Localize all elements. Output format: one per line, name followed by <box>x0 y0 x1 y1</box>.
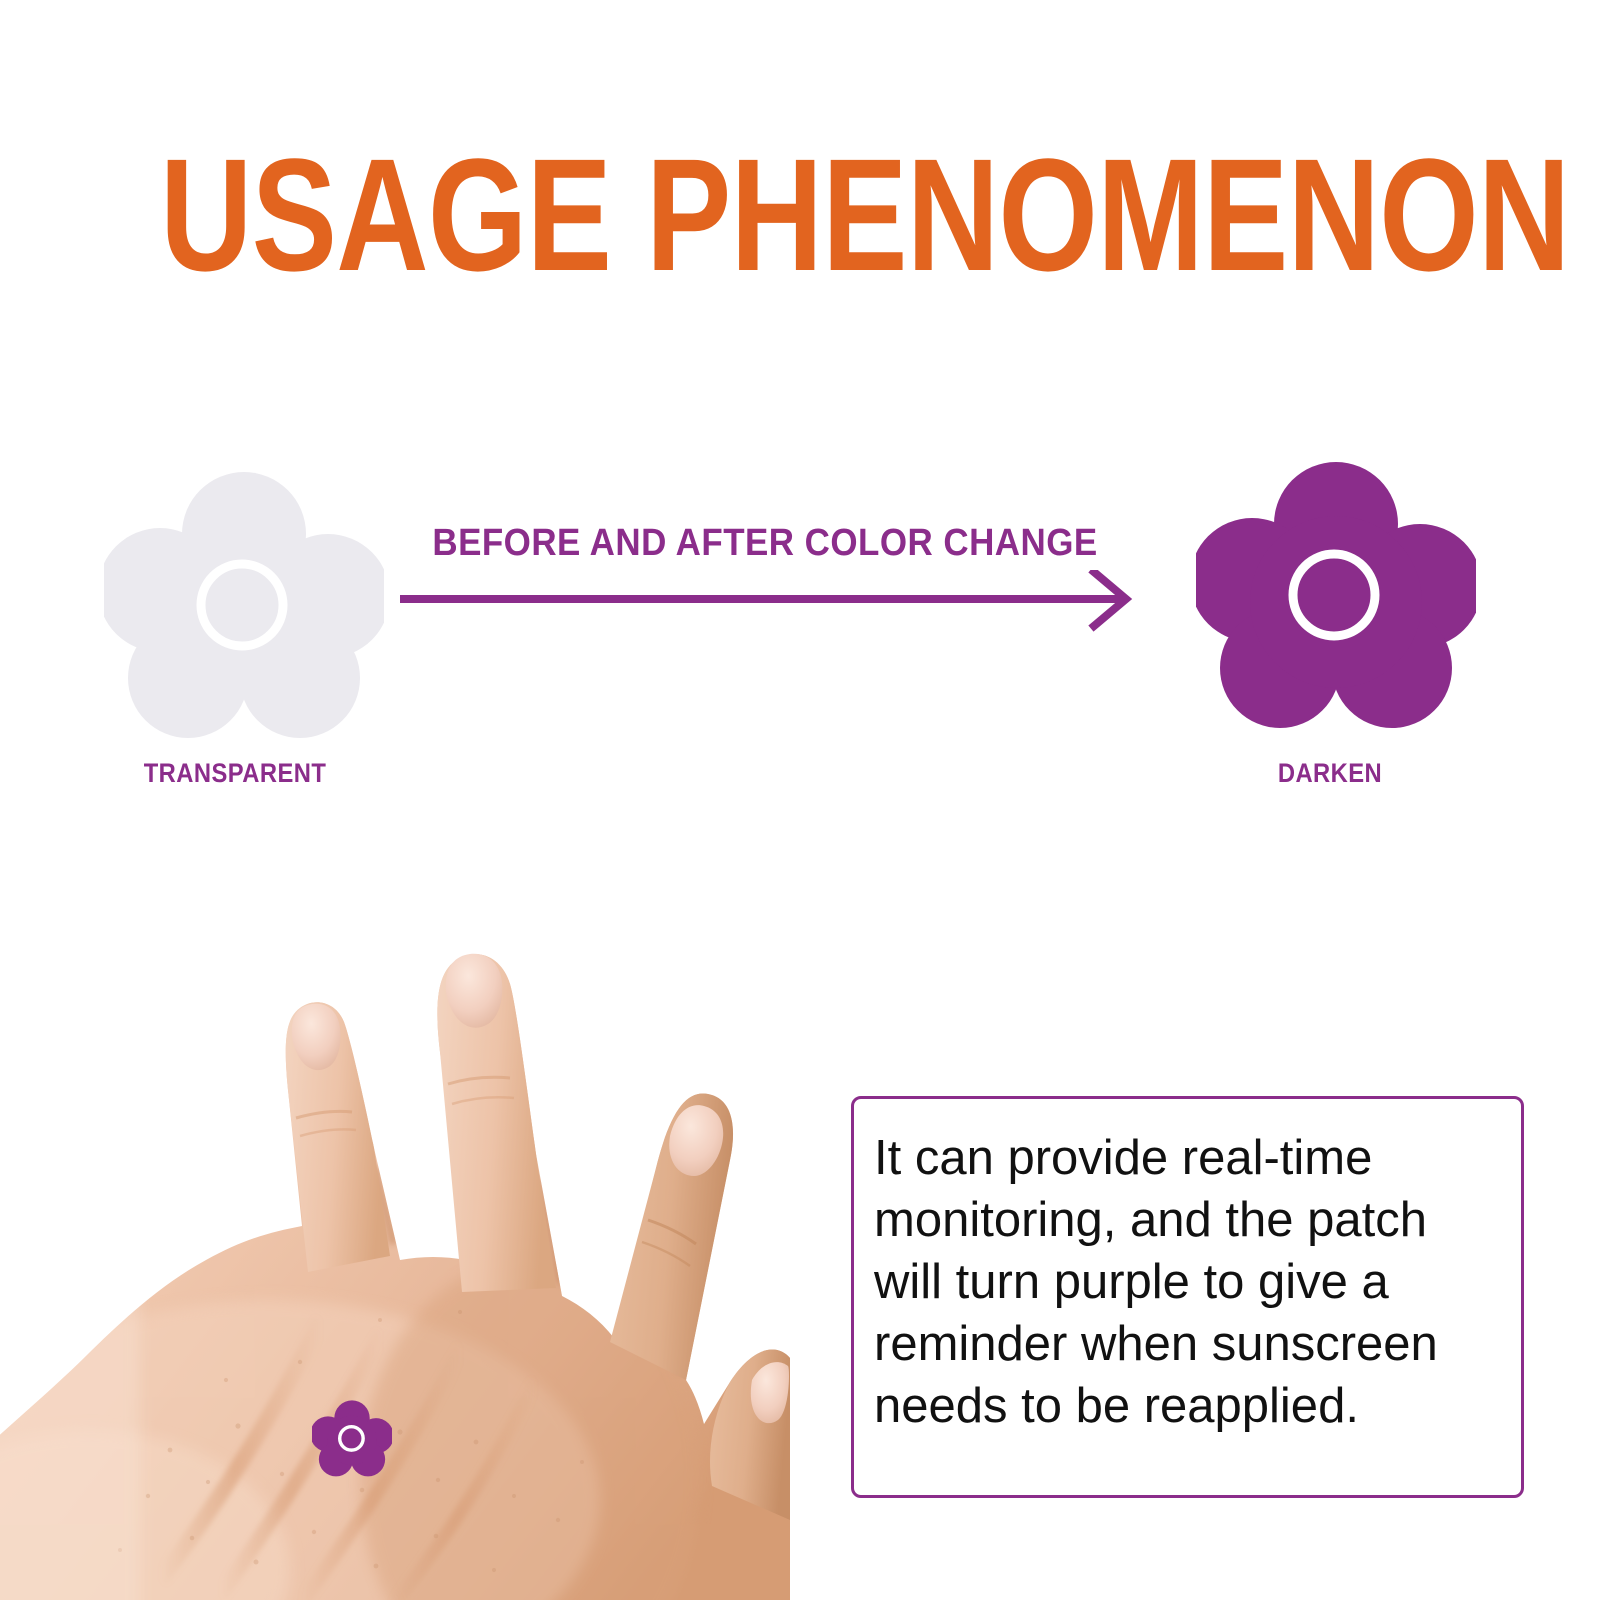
callout-box: It can provide real-time monitoring, and… <box>851 1096 1524 1498</box>
hand-photo <box>0 620 790 1600</box>
arrow-label: BEFORE AND AFTER COLOR CHANGE <box>429 522 1101 565</box>
flower-icon-darken <box>1196 462 1476 732</box>
flower-caption-darken: DARKEN <box>1154 758 1506 789</box>
page-title: USAGE PHENOMENON <box>160 140 1440 290</box>
flower-icon-patch <box>312 1400 392 1478</box>
infographic-canvas: USAGE PHENOMENON TRANSPARENT <box>0 0 1600 1600</box>
callout-text: It can provide real-time monitoring, and… <box>874 1127 1474 1437</box>
